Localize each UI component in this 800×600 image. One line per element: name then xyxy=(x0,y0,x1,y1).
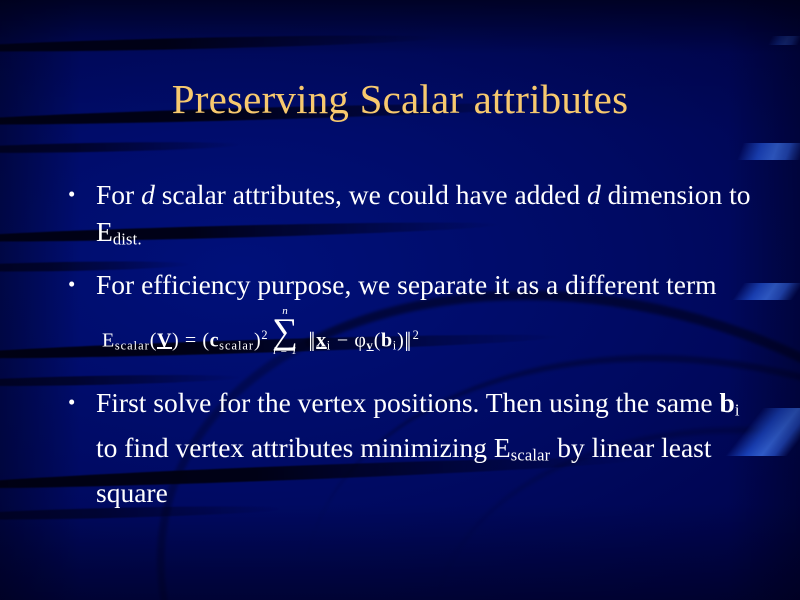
bullet-3-part-a: First solve for the vertex positions. Th… xyxy=(96,387,720,418)
bullet-dot-icon: • xyxy=(62,266,96,303)
bullet-1-var-d-second: d xyxy=(587,179,601,210)
eq-vector-x: x xyxy=(316,329,327,351)
eq-norm-open-bar: ‖ xyxy=(308,331,315,353)
presentation-slide: Preserving Scalar attributes • For d sca… xyxy=(0,0,800,600)
eq-lhs-E-subscript: scalar xyxy=(115,338,150,352)
eq-lhs-E: E xyxy=(102,329,115,351)
bullet-3-subscript-scalar: scalar xyxy=(511,446,551,465)
eq-close-paren-3: ) xyxy=(397,329,404,351)
spacer xyxy=(62,258,752,266)
bullet-2-text: For efficiency purpose, we separate it a… xyxy=(96,266,752,355)
scalar-energy-equation: Escalar(V) = (cscalar)2n∑i = 1 ‖xi − φv(… xyxy=(102,305,419,357)
bullet-1-part-b: scalar attributes, we could have added xyxy=(155,179,587,210)
eq-summation: n∑i = 1 xyxy=(272,306,298,357)
eq-open-paren-2: ( xyxy=(202,329,209,351)
bullet-3-part-c: to find vertex attributes minimizing E xyxy=(96,432,511,463)
bullet-dot-icon: • xyxy=(62,384,96,421)
eq-vector-V: V xyxy=(157,329,172,351)
eq-c-subscript: scalar xyxy=(219,338,254,352)
bullet-1-part-a: For xyxy=(96,179,141,210)
bullet-2-part-a: For efficiency purpose, we separate it a… xyxy=(96,269,717,300)
eq-x-subscript: i xyxy=(327,338,331,352)
bullet-dot-icon: • xyxy=(62,176,96,213)
slide-body: • For d scalar attributes, we could have… xyxy=(62,176,752,511)
bullet-1-text: For d scalar attributes, we could have a… xyxy=(96,176,752,258)
eq-sum-lower-limit: i = 1 xyxy=(272,346,298,357)
eq-vector-c: c xyxy=(210,329,219,351)
eq-sigma-glyph: ∑ xyxy=(272,315,298,347)
spacer xyxy=(62,354,752,384)
slide-title: Preserving Scalar attributes xyxy=(0,76,800,122)
eq-open-paren-3: ( xyxy=(374,329,381,351)
bullet-3-subscript-i: i xyxy=(735,401,740,420)
eq-phi-symbol: φ xyxy=(354,329,366,351)
eq-norm-superscript: 2 xyxy=(413,328,420,342)
bullet-3-text: First solve for the vertex positions. Th… xyxy=(96,384,752,510)
bullet-item-1: • For d scalar attributes, we could have… xyxy=(62,176,752,258)
bullet-1-var-d-first: d xyxy=(141,179,155,210)
eq-vector-b: b xyxy=(381,329,393,351)
eq-open-paren: ( xyxy=(150,329,157,351)
eq-phi-subscript-v: v xyxy=(367,338,374,352)
eq-equals-sign: = xyxy=(185,329,197,351)
eq-c-superscript: 2 xyxy=(261,328,268,342)
bullet-3-vector-b: b xyxy=(720,387,735,418)
bullet-item-3: • First solve for the vertex positions. … xyxy=(62,384,752,510)
eq-minus-sign: − xyxy=(337,329,349,351)
eq-close-paren: ) xyxy=(172,329,179,351)
eq-norm-close-bar: ‖ xyxy=(405,331,412,353)
bullet-1-subscript-dist: dist. xyxy=(113,230,142,249)
bullet-item-2: • For efficiency purpose, we separate it… xyxy=(62,266,752,355)
